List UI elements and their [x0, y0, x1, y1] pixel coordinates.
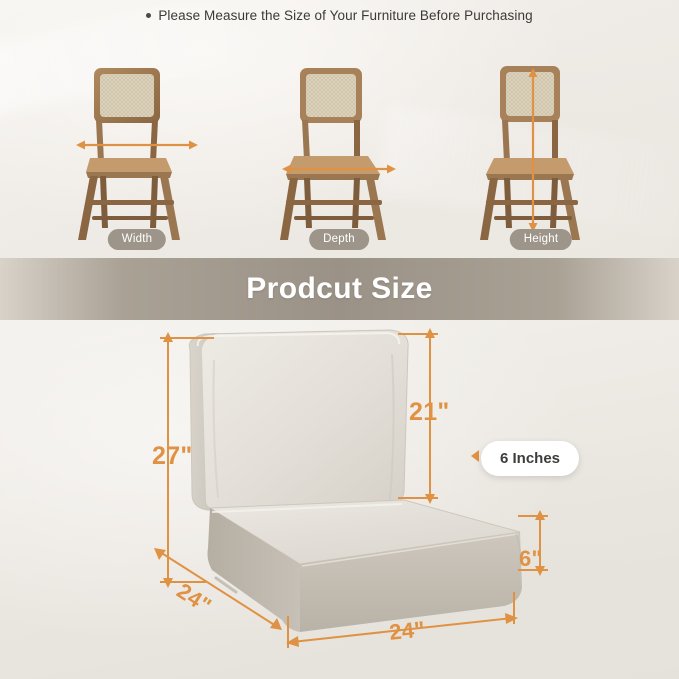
callout-6-inches: 6 Inches: [481, 441, 579, 476]
chair-tag-height: Height: [510, 229, 572, 250]
infographic-page: Please Measure the Size of Your Furnitur…: [0, 0, 679, 679]
bullet-dot: [146, 13, 151, 18]
callout-arrow-icon: [471, 450, 479, 462]
chair-height: Height: [466, 50, 616, 250]
dim-width: 24": [388, 616, 426, 646]
chair-width: Width: [62, 50, 212, 250]
chair-illustration: [264, 50, 414, 250]
chair-tag-depth: Depth: [309, 229, 369, 250]
measure-note-text: Please Measure the Size of Your Furnitur…: [158, 8, 532, 23]
top-panel: Please Measure the Size of Your Furnitur…: [0, 0, 679, 258]
chair-tag-width: Width: [108, 229, 166, 250]
chair-depth: Depth: [264, 50, 414, 250]
section-banner: Prodcut Size: [0, 258, 679, 320]
measure-note: Please Measure the Size of Your Furnitur…: [0, 8, 679, 23]
width-arrow: [76, 138, 198, 152]
dim-back-height: 21": [409, 398, 450, 427]
dim-seat-thickness: 6": [519, 546, 542, 572]
cushion-illustration: [0, 320, 679, 679]
bottom-panel: 27" 21" 6" 24" 24" 6 Inches: [0, 320, 679, 679]
depth-arrow: [282, 162, 396, 176]
dim-total-height: 27": [152, 442, 193, 471]
banner-title: Prodcut Size: [246, 272, 433, 306]
chair-illustration: [466, 50, 616, 250]
height-arrow: [526, 68, 540, 232]
